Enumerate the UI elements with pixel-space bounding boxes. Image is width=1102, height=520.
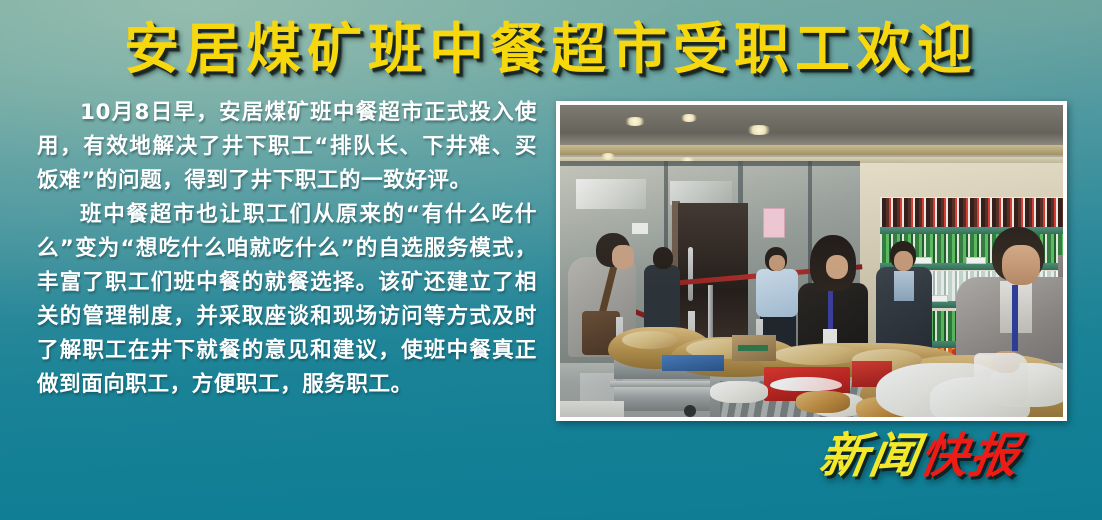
news-logo-part-b: 快报: [916, 428, 1025, 484]
photo-person-face: [612, 245, 634, 269]
news-poster: 安居煤矿班中餐超市受职工欢迎 10月8日早，安居煤矿班中餐超市正式投入使用，有效…: [0, 0, 1102, 520]
ceiling-light-icon: [600, 153, 616, 160]
photo-wall-sign: [632, 223, 648, 234]
news-logo-part-a: 新闻: [816, 428, 925, 484]
photo-glass-highlight: [576, 179, 646, 209]
photo-floor-basin: [560, 401, 624, 417]
ceiling-light-icon: [624, 117, 646, 126]
photo-person-head: [653, 247, 673, 269]
photo-food-cloth: [710, 381, 768, 403]
photo-box-label: [738, 345, 768, 351]
photo-ceiling-beam: [560, 145, 1063, 155]
article-paragraph-2: 班中餐超市也让职工们从原来的“有什么吃什么”变为“想吃什么咱就吃什么”的自选服务…: [37, 198, 537, 402]
photo-blue-box: [662, 355, 724, 371]
photo-frame: [556, 101, 1067, 421]
photo-person-shirt: [894, 271, 914, 301]
photo-door-handle: [688, 247, 693, 301]
photo-flatbread: [622, 331, 678, 349]
page-title: 安居煤矿班中餐超市受职工欢迎: [0, 14, 1102, 84]
article-paragraph-1: 10月8日早，安居煤矿班中餐超市正式投入使用，有效地解决了井下职工“排队长、下井…: [37, 96, 537, 198]
photo-cart-wheel: [684, 405, 696, 417]
ceiling-light-icon: [746, 125, 772, 135]
photo-person-face: [894, 251, 913, 271]
photo-wall-notice: [763, 208, 785, 238]
news-flash-logo: 新闻快报: [816, 428, 1025, 484]
photo-person-face: [1002, 245, 1040, 285]
ceiling-light-icon: [680, 114, 698, 122]
photo-person-face: [826, 255, 848, 279]
photo-pastry: [796, 391, 850, 413]
photo-carton-logo: [770, 377, 842, 391]
photo-person-lanyard: [828, 289, 833, 331]
photo-plastic-bag: [974, 353, 1028, 405]
photo-price-tag: [966, 257, 986, 264]
article-body: 10月8日早，安居煤矿班中餐超市正式投入使用，有效地解决了井下职工“排队长、下井…: [37, 96, 537, 402]
photo-glass-header: [560, 161, 860, 166]
news-photo: [560, 105, 1063, 417]
photo-flatbread: [774, 345, 862, 365]
photo-person-shirt: [756, 269, 798, 317]
photo-person-face: [769, 255, 785, 271]
photo-bottle-row: [882, 198, 1063, 228]
photo-person-lanyard: [1012, 285, 1018, 351]
